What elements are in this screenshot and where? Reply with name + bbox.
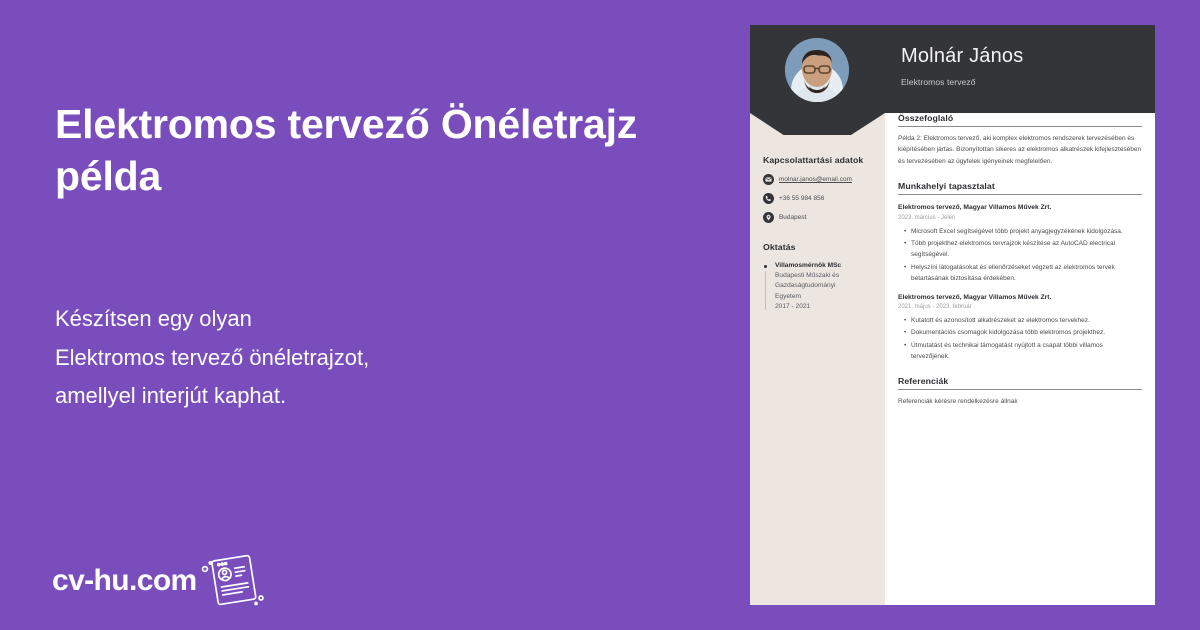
education-school-line-2: Gazdaságtudományi	[775, 281, 872, 291]
site-logo[interactable]: cv-hu.com	[52, 552, 267, 610]
promo-panel: Elektromos tervező Önéletrajz példa Kész…	[0, 0, 750, 630]
education-list: Villamosmérnök MSc Budapesti Műszaki és …	[763, 261, 872, 312]
job-bullet: Útmutatást és technikai támogatást nyújt…	[911, 340, 1142, 363]
job-bullet: Helyszíni látogatásokat és ellenőrzéseke…	[911, 262, 1142, 285]
job-bullet-list: Kutatott és azonosított alkatrészeket az…	[898, 315, 1142, 363]
contact-item-phone: +36 55 984 856	[763, 193, 872, 204]
references-text: Referenciák kérésre rendelkezésre állnak	[898, 396, 1142, 407]
contact-heading: Kapcsolattartási adatok	[763, 155, 872, 165]
contact-phone-text: +36 55 984 856	[779, 195, 824, 202]
job-title: Elektromos tervező, Magyar Villamos Műve…	[898, 293, 1142, 303]
summary-heading: Összefoglaló	[898, 113, 1142, 127]
promo-subtitle-line-2: Elektromos tervező önéletrajzot,	[55, 339, 675, 378]
promo-subtitle-line-1: Készítsen egy olyan	[55, 300, 675, 339]
contact-item-email[interactable]: molnar.janos@email.com	[763, 174, 872, 185]
job-bullet: Több projekthez elektromos tervrajzok ké…	[911, 238, 1142, 261]
references-heading: Referenciák	[898, 376, 1142, 390]
site-logo-text: cv-hu.com	[52, 566, 197, 596]
experience-job: Elektromos tervező, Magyar Villamos Műve…	[898, 203, 1142, 284]
references-section: Referenciák Referenciák kérésre rendelke…	[898, 376, 1142, 407]
experience-section: Munkahelyi tapasztalat Elektromos tervez…	[898, 181, 1142, 362]
job-dates: 2021. május - 2023. február	[898, 303, 1142, 312]
location-pin-icon	[763, 212, 774, 223]
education-heading: Oktatás	[763, 242, 872, 252]
education-section: Oktatás Villamosmérnök MSc Budapesti Műs…	[763, 242, 872, 312]
job-dates: 2023. március - Jelen	[898, 214, 1142, 223]
avatar	[785, 38, 849, 102]
job-bullet: Dokumentációs csomagok kidolgozása több …	[911, 327, 1142, 338]
education-degree: Villamosmérnök MSc	[775, 261, 872, 271]
job-bullet-list: Microsoft Excel segítségével több projek…	[898, 226, 1142, 285]
page-title: Elektromos tervező Önéletrajz példa	[55, 98, 675, 203]
resume-name: Molnár János	[901, 44, 1023, 68]
timeline-rule	[765, 271, 766, 310]
contact-email-text[interactable]: molnar.janos@email.com	[779, 176, 852, 183]
contact-item-location: Budapest	[763, 212, 872, 223]
resume-header-text: Molnár János Elektromos tervező	[901, 44, 1023, 87]
contact-list: molnar.janos@email.com +36 55 984 856	[763, 174, 872, 223]
resume-document-icon	[201, 552, 267, 610]
resume-role: Elektromos tervező	[901, 77, 1023, 87]
promo-subtitle: Készítsen egy olyan Elektromos tervező ö…	[55, 300, 675, 416]
experience-heading: Munkahelyi tapasztalat	[898, 181, 1142, 195]
summary-text: Példa 2: Elektromos tervező, aki komplex…	[898, 133, 1142, 167]
job-bullet: Kutatott és azonosított alkatrészeket az…	[911, 315, 1142, 326]
promo-subtitle-line-3: amellyel interjút kaphat.	[55, 377, 675, 416]
job-title: Elektromos tervező, Magyar Villamos Műve…	[898, 203, 1142, 213]
person-photo-avatar	[785, 38, 849, 102]
education-item: Villamosmérnök MSc Budapesti Műszaki és …	[763, 261, 872, 312]
resume-main-column: Összefoglaló Példa 2: Elektromos tervező…	[885, 113, 1155, 407]
education-school-line-1: Budapesti Műszaki és	[775, 271, 872, 281]
education-school-line-3: Egyetem	[775, 292, 872, 302]
summary-section: Összefoglaló Példa 2: Elektromos tervező…	[898, 113, 1142, 167]
job-bullet: Microsoft Excel segítségével több projek…	[911, 226, 1142, 237]
envelope-icon	[763, 174, 774, 185]
resume-preview-card[interactable]: Kapcsolattartási adatok molnar.janos@ema…	[750, 25, 1155, 605]
promo-title-line-1: Elektromos tervező	[55, 101, 430, 147]
experience-job: Elektromos tervező, Magyar Villamos Műve…	[898, 293, 1142, 363]
bullet-dot-icon	[764, 265, 767, 268]
education-dates: 2017 - 2021	[775, 302, 872, 312]
contact-location-text: Budapest	[779, 214, 806, 221]
phone-icon	[763, 193, 774, 204]
